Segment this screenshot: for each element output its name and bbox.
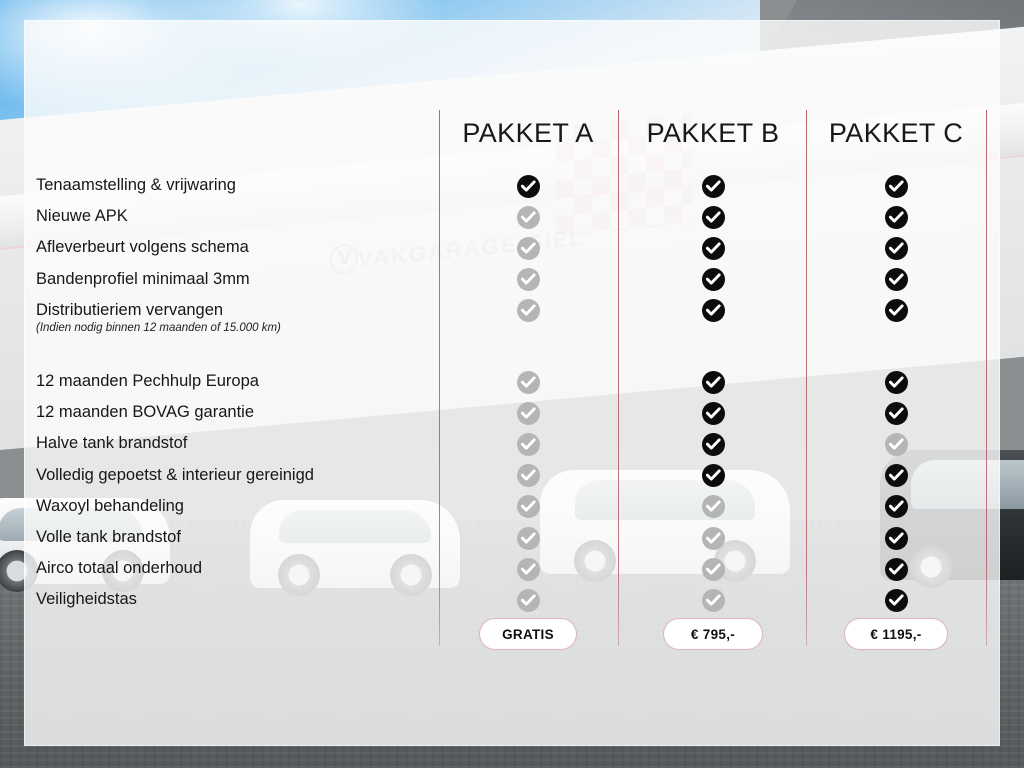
check-included-icon <box>885 268 908 291</box>
feature-label: 12 maanden Pechhulp Europa <box>36 372 259 391</box>
check-included-icon <box>885 464 908 487</box>
check-included-icon <box>885 402 908 425</box>
check-included-icon <box>702 464 725 487</box>
check-included-icon <box>885 299 908 322</box>
check-excluded-icon <box>885 433 908 456</box>
check-included-icon <box>885 237 908 260</box>
check-included-icon <box>702 175 725 198</box>
price-badge-1[interactable]: GRATIS <box>479 618 577 650</box>
check-excluded-icon <box>517 527 540 550</box>
check-excluded-icon <box>517 237 540 260</box>
price-badge-2[interactable]: € 795,- <box>663 618 763 650</box>
check-included-icon <box>885 175 908 198</box>
check-excluded-icon <box>517 589 540 612</box>
feature-label: Veiligheidstas <box>36 590 137 609</box>
feature-label: Distributieriem vervangen <box>36 301 223 320</box>
feature-label: Nieuwe APK <box>36 207 128 226</box>
check-excluded-icon <box>702 495 725 518</box>
check-excluded-icon <box>517 495 540 518</box>
check-excluded-icon <box>517 558 540 581</box>
check-excluded-icon <box>517 371 540 394</box>
check-included-icon <box>702 206 725 229</box>
check-excluded-icon <box>702 589 725 612</box>
feature-label: Airco totaal onderhoud <box>36 559 202 578</box>
column-divider-2 <box>618 110 619 646</box>
check-included-icon <box>885 206 908 229</box>
column-divider-1 <box>439 110 440 646</box>
check-excluded-icon <box>702 527 725 550</box>
check-included-icon <box>702 433 725 456</box>
feature-label: Volle tank brandstof <box>36 528 181 547</box>
comparison-table-poster: VAKGARAGE GIEL PAKKET APAKKET BPAKKET CT… <box>0 0 1024 768</box>
check-included-icon <box>885 527 908 550</box>
column-header-3: PAKKET C <box>786 113 1006 153</box>
feature-sublabel: (Indien nodig binnen 12 maanden of 15.00… <box>36 322 281 334</box>
check-included-icon <box>702 402 725 425</box>
check-included-icon <box>702 237 725 260</box>
feature-label: Halve tank brandstof <box>36 434 187 453</box>
check-included-icon <box>885 558 908 581</box>
check-included-icon <box>702 268 725 291</box>
check-included-icon <box>885 495 908 518</box>
column-divider-3 <box>806 110 807 646</box>
feature-label: Waxoyl behandeling <box>36 497 184 516</box>
price-badge-3[interactable]: € 1195,- <box>844 618 948 650</box>
check-excluded-icon <box>517 268 540 291</box>
comparison-content: PAKKET APAKKET BPAKKET CTenaamstelling &… <box>0 0 1024 768</box>
feature-label: Volledig gepoetst & interieur gereinigd <box>36 466 314 485</box>
feature-label: Afleverbeurt volgens schema <box>36 238 249 257</box>
check-included-icon <box>885 589 908 612</box>
check-excluded-icon <box>517 464 540 487</box>
column-divider-4 <box>986 110 987 646</box>
feature-label: Bandenprofiel minimaal 3mm <box>36 270 250 289</box>
feature-label: 12 maanden BOVAG garantie <box>36 403 254 422</box>
check-included-icon <box>517 175 540 198</box>
check-included-icon <box>702 371 725 394</box>
check-included-icon <box>702 299 725 322</box>
check-excluded-icon <box>517 402 540 425</box>
feature-label: Tenaamstelling & vrijwaring <box>36 176 236 195</box>
check-excluded-icon <box>517 433 540 456</box>
check-excluded-icon <box>517 206 540 229</box>
check-excluded-icon <box>702 558 725 581</box>
check-included-icon <box>885 371 908 394</box>
check-excluded-icon <box>517 299 540 322</box>
